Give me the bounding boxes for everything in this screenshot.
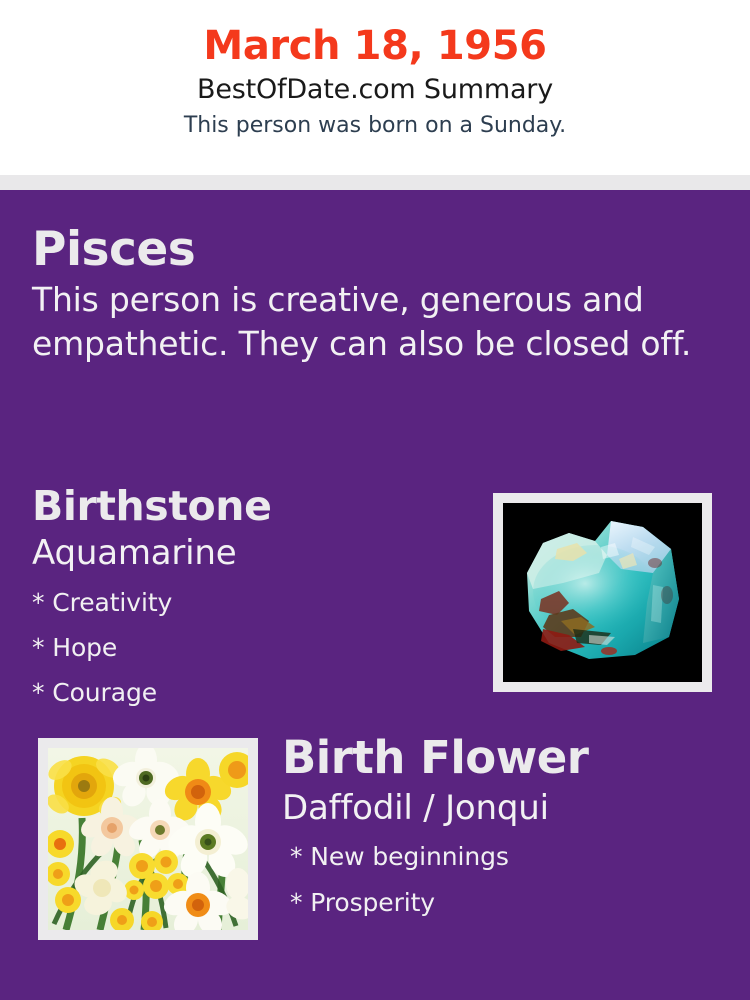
birth-flower-photo-frame (38, 738, 258, 940)
page-header: March 18, 1956 BestOfDate.com Summary Th… (0, 0, 750, 175)
header-divider (0, 175, 750, 190)
zodiac-sign-heading: Pisces (32, 222, 722, 278)
birth-flower-heading: Birth Flower (282, 730, 732, 786)
birthstone-text-block: Birthstone Aquamarine * Creativity * Hop… (32, 480, 472, 715)
daffodil-flowers-icon (48, 748, 248, 930)
birthstone-name: Aquamarine (32, 532, 472, 574)
birth-flower-name: Daffodil / Jonqui (282, 786, 732, 830)
birthstone-heading: Birthstone (32, 480, 472, 532)
birthstone-photo-frame (493, 493, 712, 692)
birth-day-note: This person was born on a Sunday. (0, 110, 750, 142)
zodiac-description: This person is creative, generous and em… (32, 278, 704, 366)
aquamarine-crystal-icon (503, 503, 702, 682)
page-title: March 18, 1956 (0, 22, 750, 70)
list-item: * New beginnings (290, 834, 732, 880)
list-item: * Hope (32, 625, 472, 670)
birth-flower-photo (48, 748, 248, 930)
list-item: * Creativity (32, 580, 472, 625)
site-name: BestOfDate.com Summary (0, 70, 750, 110)
list-item: * Prosperity (290, 880, 732, 926)
birth-flower-section: Birth Flower Daffodil / Jonqui * New beg… (0, 730, 750, 960)
birthstone-photo (503, 503, 702, 682)
list-item: * Courage (32, 670, 472, 715)
birth-flower-trait-list: * New beginnings * Prosperity (290, 834, 732, 926)
birth-flower-text-block: Birth Flower Daffodil / Jonqui * New beg… (282, 730, 732, 926)
birthstone-section: Birthstone Aquamarine * Creativity * Hop… (0, 480, 750, 710)
birthstone-trait-list: * Creativity * Hope * Courage (32, 580, 472, 715)
summary-panel: Pisces This person is creative, generous… (0, 190, 750, 1000)
zodiac-section: Pisces This person is creative, generous… (32, 222, 722, 366)
